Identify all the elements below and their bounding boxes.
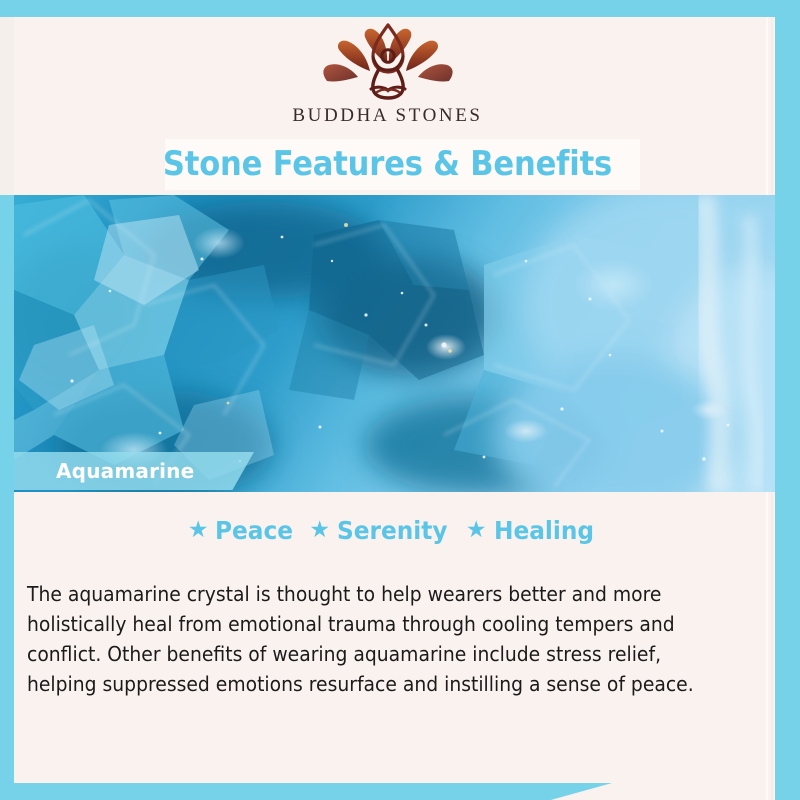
keyword-item-healing: ★ Healing bbox=[466, 516, 601, 545]
left-accent-stripe bbox=[0, 195, 14, 783]
bottom-accent-bar bbox=[0, 783, 612, 800]
aquamarine-crystal-photo bbox=[14, 195, 775, 492]
keyword-label-healing: Healing bbox=[494, 516, 594, 545]
brand-name: BUDDHA STONES bbox=[292, 105, 482, 127]
keyword-label-serenity: Serenity bbox=[337, 516, 448, 545]
brand-logo-block: BUDDHA STONES bbox=[0, 17, 775, 137]
star-icon: ★ bbox=[466, 519, 487, 542]
benefit-keywords-row: ★ Peace ★ Serenity ★ Healing bbox=[14, 512, 775, 548]
poster-canvas: BUDDHA STONES Stone Features & Benefits bbox=[0, 0, 800, 800]
star-icon: ★ bbox=[188, 519, 209, 542]
stone-name-label: Aquamarine bbox=[14, 459, 194, 483]
lotus-meditation-icon bbox=[313, 23, 463, 101]
star-icon: ★ bbox=[309, 519, 330, 542]
keyword-item-serenity: ★ Serenity bbox=[309, 516, 456, 545]
stone-name-banner: Aquamarine bbox=[14, 452, 254, 490]
page-title: Stone Features & Benefits bbox=[39, 139, 737, 190]
stone-description: The aquamarine crystal is thought to hel… bbox=[27, 579, 706, 699]
keyword-label-peace: Peace bbox=[215, 516, 293, 545]
keyword-item-peace: ★ Peace bbox=[188, 516, 300, 545]
